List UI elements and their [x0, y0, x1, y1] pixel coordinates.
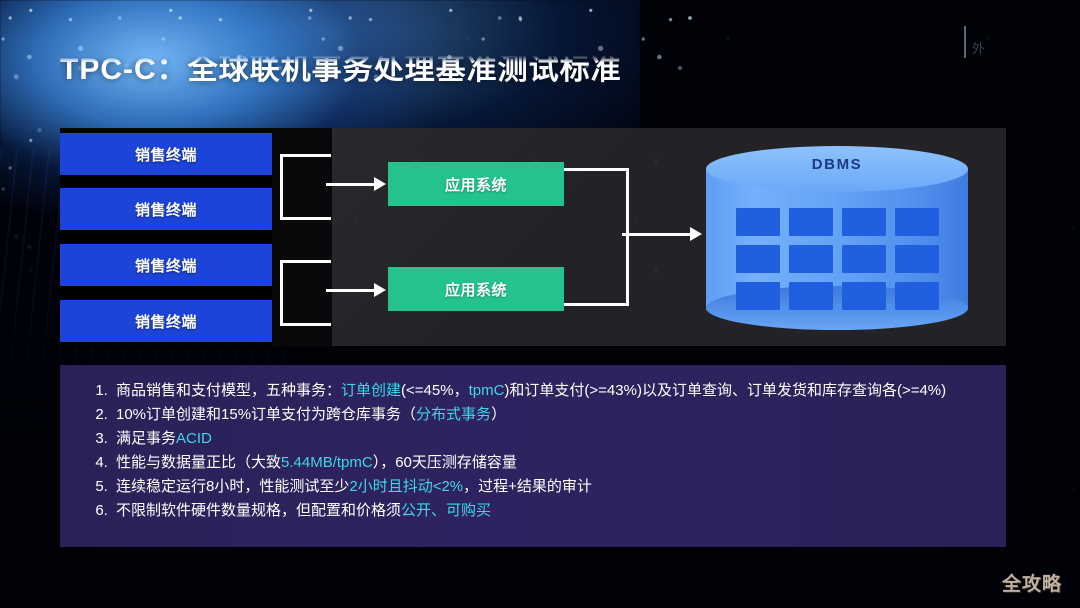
requirement-text: ），60天压测存储容量	[373, 454, 517, 471]
app-system-label: 应用系统	[445, 279, 507, 300]
arrow-line-to-app-1	[326, 183, 376, 186]
requirement-text: 性能与数据量正比（大致	[116, 454, 281, 471]
arrow-line-to-database	[622, 233, 694, 236]
requirement-text: )和订单支付(>=43%)以及订单查询、订单发货和库存查询各(>=4%)	[504, 382, 946, 399]
sales-terminal-box-4: 销售终端	[60, 300, 272, 342]
requirement-text: 连续稳定运行8小时，性能测试至少	[116, 478, 349, 495]
requirement-text: 商品销售和支付模型，五种事务：	[116, 382, 341, 399]
sales-terminal-label: 销售终端	[135, 199, 197, 220]
slide-root: TPC-C：全球联机事务处理基准测试标准 外 销售终端 销售终端 销售终端 销售…	[0, 0, 1080, 608]
requirement-highlight: 订单创建	[341, 382, 401, 399]
requirement-highlight: 分布式事务	[416, 406, 491, 423]
requirement-item: 性能与数据量正比（大致5.44MB/tpmC），60天压测存储容量	[112, 451, 984, 474]
requirement-text: ）	[491, 406, 506, 423]
sales-terminal-label: 销售终端	[135, 255, 197, 276]
arrow-head-to-database	[690, 227, 702, 241]
database-table-cell	[736, 282, 780, 310]
requirement-highlight: 5.44MB/tpmC	[281, 454, 373, 471]
requirement-text: 满足事务	[116, 430, 176, 447]
database-cylinder: DBMS	[706, 146, 968, 328]
requirement-item: 不限制软件硬件数量规格，但配置和价格须公开、可购买	[112, 499, 984, 522]
database-table-cell	[736, 208, 780, 236]
requirement-text: ，过程+结果的审计	[463, 478, 592, 495]
connector-bracket-bottom	[280, 260, 331, 326]
requirement-highlight: tpmC	[469, 382, 505, 399]
database-table-cell	[895, 282, 939, 310]
top-right-corner-mark: 外	[972, 38, 985, 57]
sales-terminal-label: 销售终端	[135, 144, 197, 165]
connector-bracket-top	[280, 154, 331, 220]
page-title-text: TPC-C：全球联机事务处理基准测试标准	[60, 44, 622, 88]
database-table-cell	[842, 208, 886, 236]
app-system-label: 应用系统	[445, 174, 507, 195]
app-system-box-1: 应用系统	[388, 162, 564, 206]
app-system-box-2: 应用系统	[388, 267, 564, 311]
requirement-text: 不限制软件硬件数量规格，但配置和价格须	[116, 502, 401, 519]
database-table-cell	[895, 245, 939, 273]
database-table-cell	[895, 208, 939, 236]
watermark: 全攻略	[1002, 569, 1062, 596]
requirement-text: 10%订单创建和15%订单支付为跨仓库事务（	[116, 406, 416, 423]
sales-terminal-box-1: 销售终端	[60, 133, 272, 175]
database-table-cell	[842, 282, 886, 310]
requirements-panel: 商品销售和支付模型，五种事务：订单创建(<=45%，tpmC)和订单支付(>=4…	[60, 365, 1006, 547]
sales-terminal-box-3: 销售终端	[60, 244, 272, 286]
requirements-list: 商品销售和支付模型，五种事务：订单创建(<=45%，tpmC)和订单支付(>=4…	[60, 365, 1006, 522]
database-table-cell	[789, 245, 833, 273]
database-table-grid	[736, 208, 938, 310]
requirement-item: 商品销售和支付模型，五种事务：订单创建(<=45%，tpmC)和订单支付(>=4…	[112, 379, 984, 402]
requirement-highlight: 公开、可购买	[401, 502, 491, 519]
connector-bracket-merge	[564, 168, 629, 306]
requirement-item: 10%订单创建和15%订单支付为跨仓库事务（分布式事务）	[112, 403, 984, 426]
architecture-diagram: 销售终端 销售终端 销售终端 销售终端 应用系统 应用系统 DBM	[60, 128, 1006, 346]
requirement-highlight: 2小时且抖动<2%	[349, 478, 463, 495]
top-right-bar-mark	[964, 26, 966, 58]
database-table-cell	[789, 208, 833, 236]
requirement-text: (<=45%，	[401, 382, 469, 399]
requirement-item: 满足事务ACID	[112, 427, 984, 450]
arrow-head-to-app-2	[374, 283, 386, 297]
page-title: TPC-C：全球联机事务处理基准测试标准	[60, 44, 622, 88]
sales-terminal-box-2: 销售终端	[60, 188, 272, 230]
database-label: DBMS	[706, 156, 968, 173]
arrow-head-to-app-1	[374, 177, 386, 191]
database-table-cell	[736, 245, 780, 273]
database-table-cell	[842, 245, 886, 273]
requirement-highlight: ACID	[176, 430, 212, 447]
requirement-item: 连续稳定运行8小时，性能测试至少2小时且抖动<2%，过程+结果的审计	[112, 475, 984, 498]
sales-terminal-label: 销售终端	[135, 311, 197, 332]
database-table-cell	[789, 282, 833, 310]
arrow-line-to-app-2	[326, 289, 376, 292]
